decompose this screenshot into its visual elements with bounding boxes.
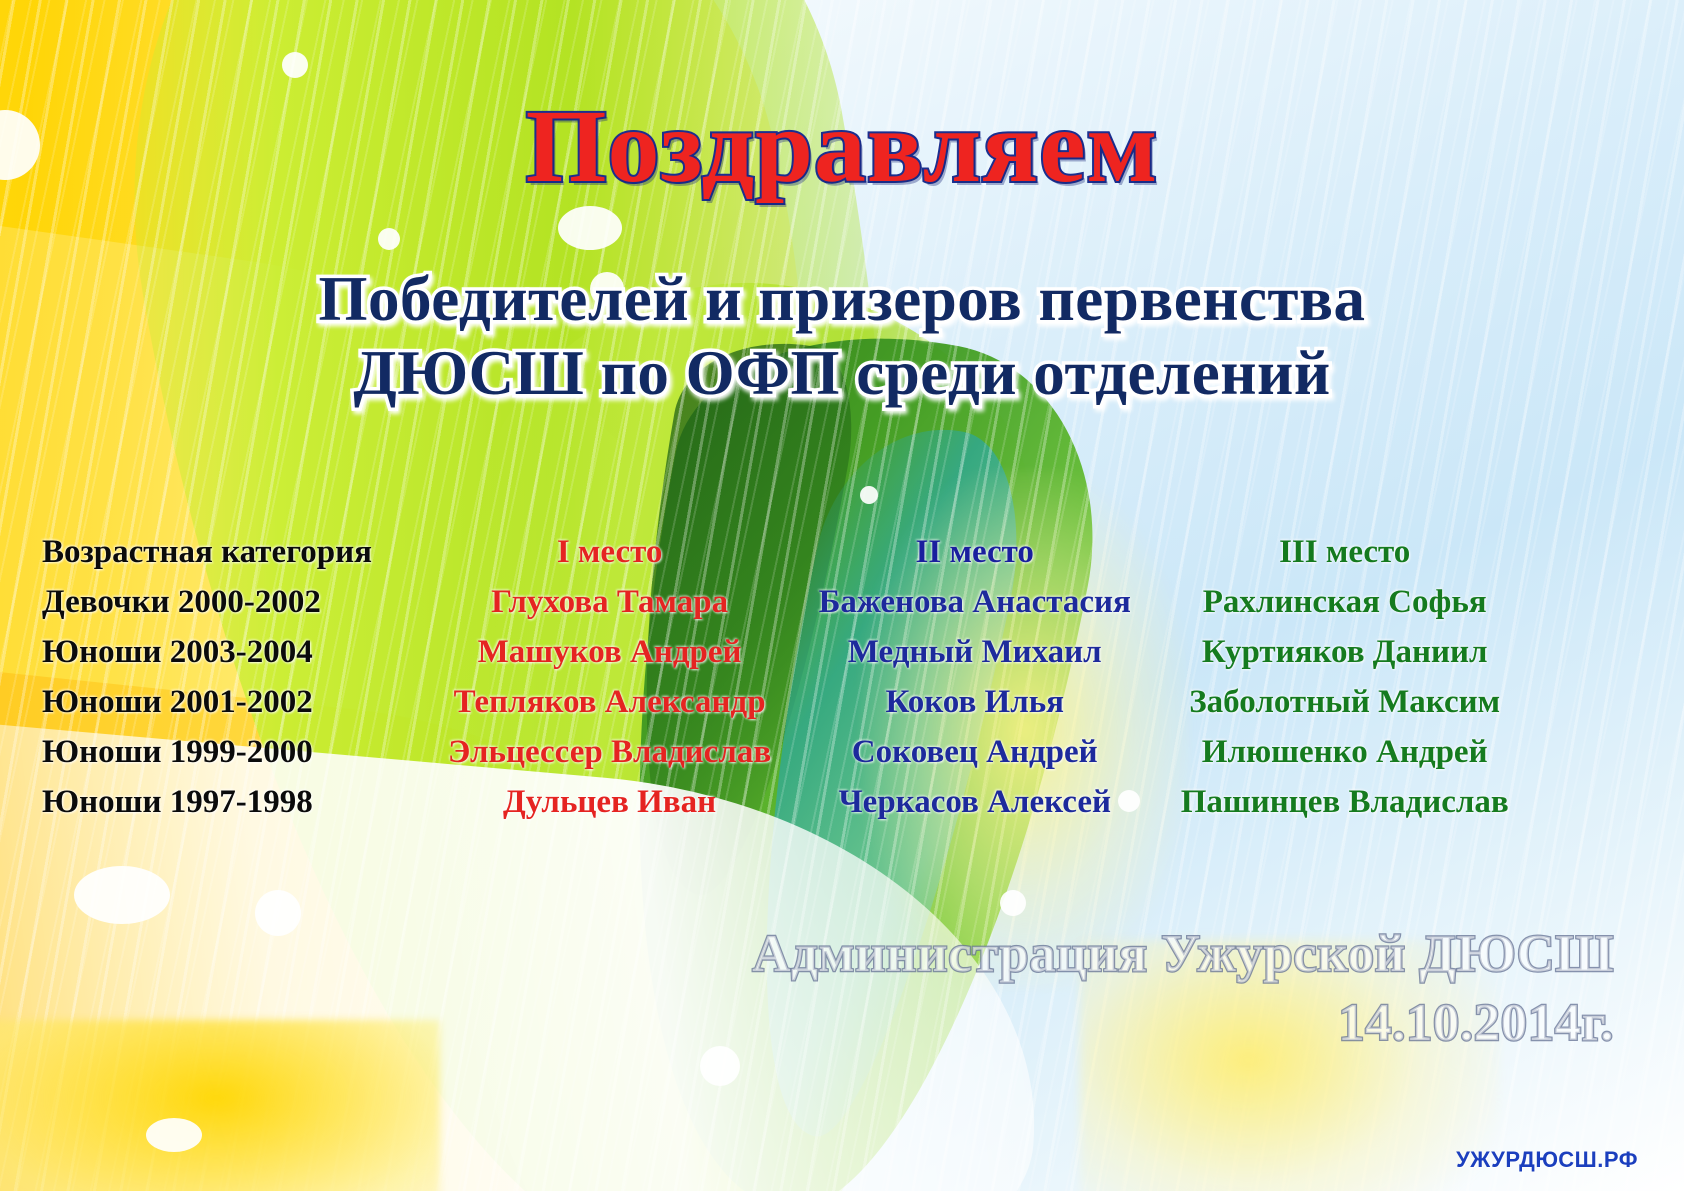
table-row: Девочки 2000-2002 Глухова Тамара Баженов…	[40, 578, 1530, 628]
cell-category: Юноши 2003-2004	[40, 628, 429, 678]
cell-place-2: Коков Илья	[790, 678, 1159, 728]
cell-place-3: Рахлинская Софья	[1159, 578, 1530, 628]
page-title: Поздравляем	[0, 92, 1684, 201]
page-subtitle-line-1: Победителей и призеров первенства	[319, 264, 1366, 334]
page-subtitle: Победителей и призеров первенства ДЮСШ п…	[0, 262, 1684, 411]
cell-place-1: Дульцев Иван	[429, 778, 790, 828]
cell-place-3: Заболотный Максим	[1159, 678, 1530, 728]
poster-canvas: Поздравляем Победителей и призеров перве…	[0, 0, 1684, 1191]
cell-category: Юноши 2001-2002	[40, 678, 429, 728]
cell-place-3: Куртияков Даниил	[1159, 628, 1530, 678]
cell-category: Юноши 1999-2000	[40, 728, 429, 778]
page-subtitle-line-2: ДЮСШ по ОФП среди отделений	[0, 336, 1684, 410]
table-row: Юноши 2001-2002 Тепляков Александр Коков…	[40, 678, 1530, 728]
footer-date: 14.10.2014г.	[752, 991, 1614, 1056]
poster-content: Поздравляем Победителей и призеров перве…	[0, 0, 1684, 1191]
column-header-category: Возрастная категория	[40, 528, 429, 578]
results-table-body: Девочки 2000-2002 Глухова Тамара Баженов…	[40, 578, 1530, 828]
cell-place-2: Баженова Анастасия	[790, 578, 1159, 628]
table-row: Юноши 2003-2004 Машуков Андрей Медный Ми…	[40, 628, 1530, 678]
footer-signature: Администрация Ужурской ДЮСШ 14.10.2014г.	[752, 922, 1614, 1055]
cell-place-3: Пашинцев Владислав	[1159, 778, 1530, 828]
cell-place-2: Медный Михаил	[790, 628, 1159, 678]
table-header-row: Возрастная категория I место II место II…	[40, 528, 1530, 578]
footer-organization: Администрация Ужурской ДЮСШ	[752, 925, 1614, 983]
cell-place-1: Эльцессер Владислав	[429, 728, 790, 778]
cell-category: Девочки 2000-2002	[40, 578, 429, 628]
column-header-place-2: II место	[790, 528, 1159, 578]
column-header-place-1: I место	[429, 528, 790, 578]
site-watermark: УЖУРДЮСШ.РФ	[1456, 1147, 1638, 1173]
cell-place-2: Черкасов Алексей	[790, 778, 1159, 828]
cell-category: Юноши 1997-1998	[40, 778, 429, 828]
table-row: Юноши 1997-1998 Дульцев Иван Черкасов Ал…	[40, 778, 1530, 828]
results-table: Возрастная категория I место II место II…	[40, 528, 1530, 828]
cell-place-1: Глухова Тамара	[429, 578, 790, 628]
cell-place-3: Илюшенко Андрей	[1159, 728, 1530, 778]
results-table-head: Возрастная категория I место II место II…	[40, 528, 1530, 578]
cell-place-1: Тепляков Александр	[429, 678, 790, 728]
cell-place-1: Машуков Андрей	[429, 628, 790, 678]
cell-place-2: Соковец Андрей	[790, 728, 1159, 778]
table-row: Юноши 1999-2000 Эльцессер Владислав Соко…	[40, 728, 1530, 778]
column-header-place-3: III место	[1159, 528, 1530, 578]
